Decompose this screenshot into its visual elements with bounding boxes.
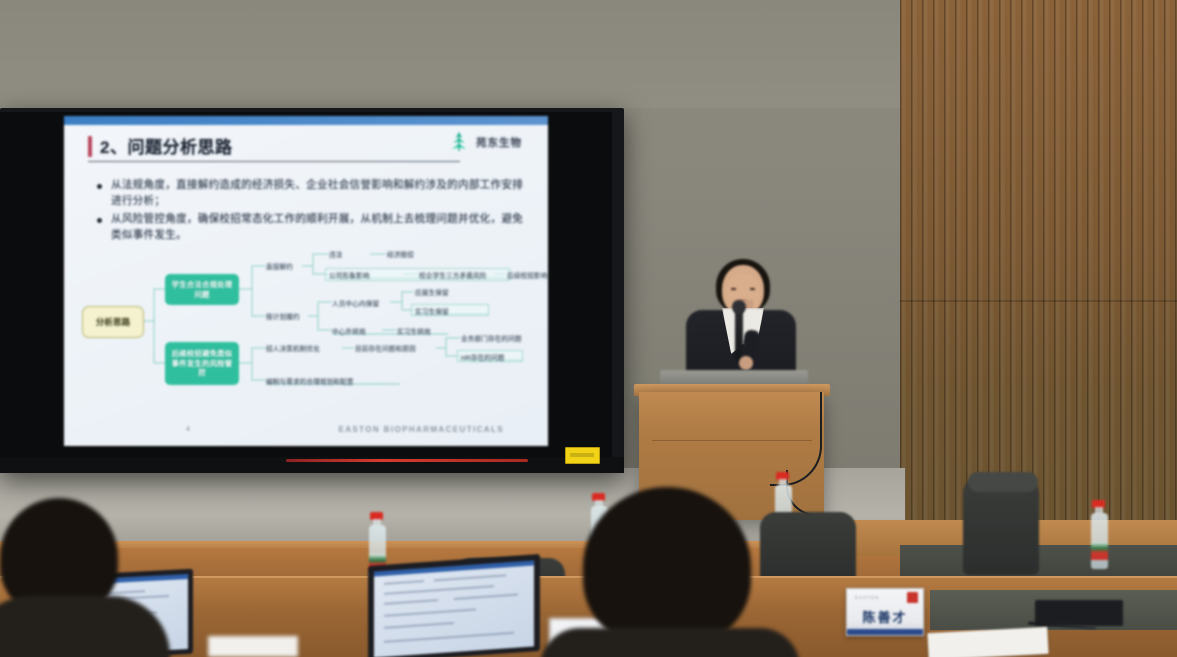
- slide-brand-footer: EASTON BIOPHARMACEUTICALS: [338, 425, 504, 434]
- namecard-subtitle: EASTON: [855, 595, 879, 600]
- mindmap-root-node: 分析思路: [82, 306, 144, 338]
- mindmap-branch-node: 学生合法合规处理问题: [165, 274, 239, 305]
- mindmap-leaf: 违法: [329, 249, 343, 259]
- mindmap-leaf: 应届生保留: [415, 287, 449, 297]
- wall-display: 2、问题分析思路 苑东生物 从法规角度，直接解约造成的经济损失、: [0, 108, 624, 473]
- slide-footer: 4 EASTON BIOPHARMACEUTICALS: [64, 424, 548, 440]
- conference-room-photo: 2、问题分析思路 苑东生物 从法规角度，直接解约造成的经济损失、: [0, 0, 1177, 657]
- office-chair: [760, 512, 856, 582]
- mindmap-diagram: 分析思路 学生合法合规处理问题 后续校招避免类似事件发生的风险管控 直接解约 按…: [70, 244, 548, 404]
- paper-sheet: [927, 627, 1048, 657]
- title-underline: [88, 161, 460, 162]
- table-namecard: EASTON 陈善才: [846, 588, 924, 636]
- bullet-item: 从法规角度，直接解约造成的经济损失、企业社会信誉影响和解约涉及的内部工作安排进行…: [94, 178, 524, 209]
- company-logo-text: 苑东生物: [476, 135, 522, 150]
- mindmap-leaf: 按计划履约: [266, 311, 300, 321]
- bullet-item: 从风险管控角度，确保校招常态化工作的顺利开展，从机制上去梳理问题并优化，避免类似…: [94, 212, 524, 243]
- upper-wall-band: [0, 0, 905, 108]
- mindmap-leaf: 目前存在问题和原因: [355, 343, 416, 353]
- slide-page-number: 4: [186, 426, 190, 433]
- company-logo: 苑东生物: [446, 130, 522, 154]
- mindmap-leaf: 实习生保留: [415, 306, 449, 316]
- mindmap-leaf: 业务部门存在的问题: [461, 333, 522, 343]
- presentation-slide: 2、问题分析思路 苑东生物 从法规角度，直接解约造成的经济损失、: [64, 116, 548, 446]
- mindmap-leaf: 实习生转岗: [397, 326, 431, 336]
- mindmap-leaf: 招人决策机制优化: [266, 343, 320, 353]
- mindmap-leaf: 直接解约: [266, 261, 293, 271]
- slide-top-accent: [64, 116, 548, 125]
- mindmap-leaf: 公司形象影响: [329, 270, 369, 280]
- display-yellow-sticker: [565, 447, 600, 464]
- mindmap-branch-node: 后续校招避免类似事件发生的风险管控: [165, 342, 239, 385]
- audience-center-head: [583, 487, 751, 647]
- mindmap-leaf: 校企学生三方矛盾风险: [419, 270, 486, 280]
- easton-starburst-logo: [446, 130, 472, 154]
- mindmap-leaf: 经济赔偿: [387, 249, 414, 259]
- mindmap-leaf: 人员中心内保留: [332, 298, 379, 308]
- mindmap-leaf: 后续校招影响: [507, 270, 547, 280]
- slide-header: 2、问题分析思路 苑东生物: [88, 134, 526, 168]
- title-accent-bar: [88, 136, 92, 157]
- slide-bullets: 从法规角度，直接解约造成的经济损失、企业社会信誉影响和解约涉及的内部工作安排进行…: [94, 178, 524, 246]
- namecard-bottom-bar: [847, 629, 923, 635]
- audience-center-shoulders: [540, 628, 800, 657]
- office-chair-headrest: [968, 472, 1038, 492]
- namecard-name: 陈善才: [847, 607, 923, 626]
- speaker-hand: [739, 356, 753, 370]
- mindmap-leaf: 中心外转岗: [332, 326, 366, 336]
- speaker-eye: [731, 288, 736, 290]
- namecard-logo: [907, 592, 918, 603]
- wood-slat-wall: [900, 0, 1177, 560]
- mindmap-leaf: 编制与需求的合理规划和配置: [266, 376, 354, 386]
- mindmap-leaf: HR存在的问题: [461, 352, 505, 362]
- wood-wall-seam: [900, 300, 1177, 302]
- display-red-strip: [286, 459, 528, 462]
- laptop-center[interactable]: [368, 554, 540, 657]
- paper-sheet: [208, 636, 298, 657]
- slide-title: 2、问题分析思路: [100, 133, 232, 158]
- speaker-eye: [750, 288, 755, 290]
- microphone-head: [732, 300, 746, 314]
